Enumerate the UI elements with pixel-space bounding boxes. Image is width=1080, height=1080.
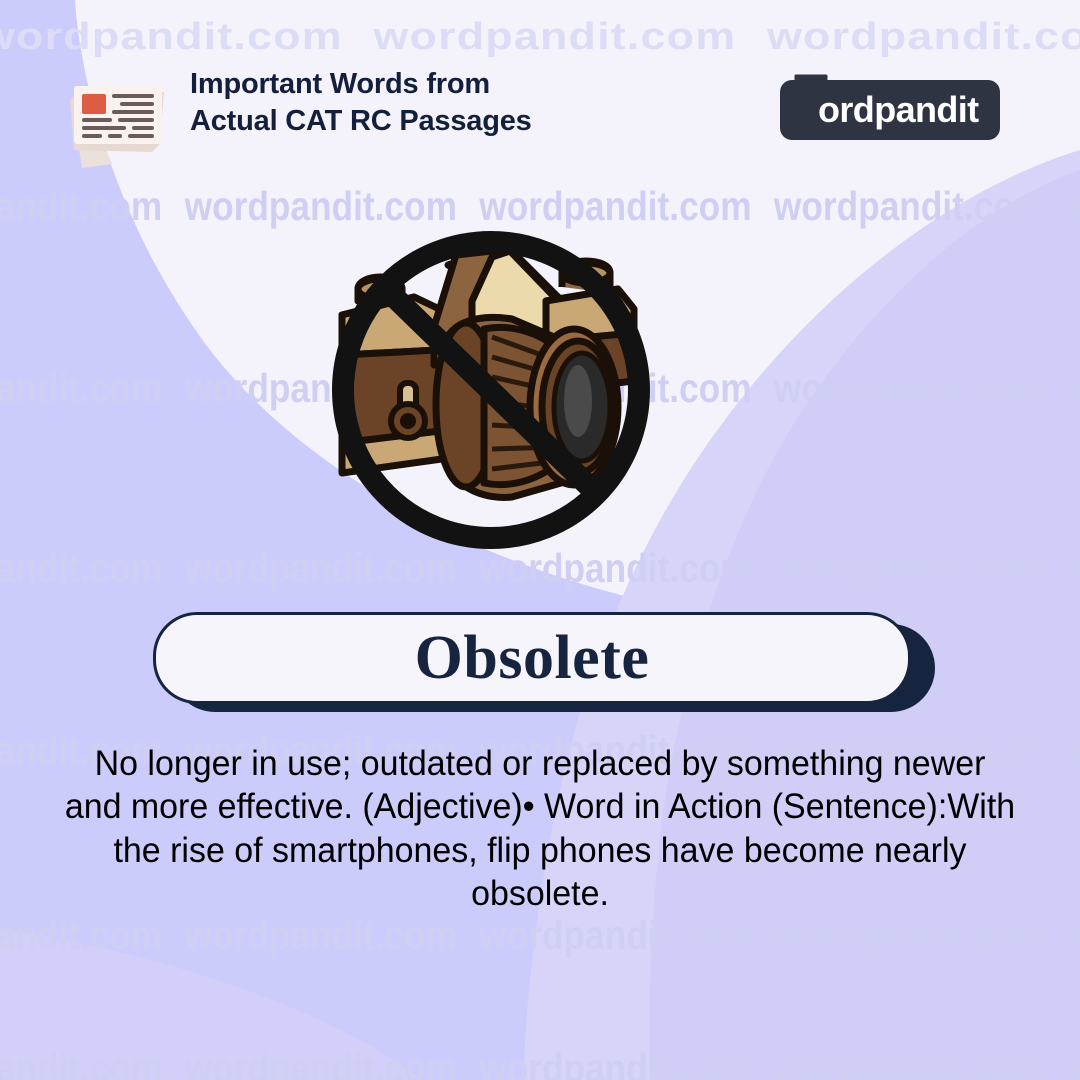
no-camera-svg	[296, 205, 686, 575]
header: Important Words from Actual CAT RC Passa…	[0, 62, 1080, 172]
page-title-line1: Important Words from	[190, 68, 490, 100]
word-card: Obsolete	[153, 612, 935, 712]
page-title: Important Words from Actual CAT RC Passa…	[190, 66, 610, 140]
camera-lens	[436, 317, 618, 497]
definition-text: No longer in use; outdated or replaced b…	[63, 742, 1017, 916]
wordpandit-logo[interactable]: ordpandit	[780, 80, 1000, 140]
word-card-face: Obsolete	[153, 612, 911, 704]
newspaper-icon	[60, 72, 175, 172]
vocabulary-word: Obsolete	[415, 623, 650, 694]
page-title-line2: Actual CAT RC Passages	[190, 103, 610, 140]
no-camera-illustration	[296, 205, 686, 575]
poster-canvas: wordpandit.comwordpandit.comwordpandit.c…	[0, 0, 1080, 1080]
wordpandit-logo-text: ordpandit	[818, 89, 979, 131]
